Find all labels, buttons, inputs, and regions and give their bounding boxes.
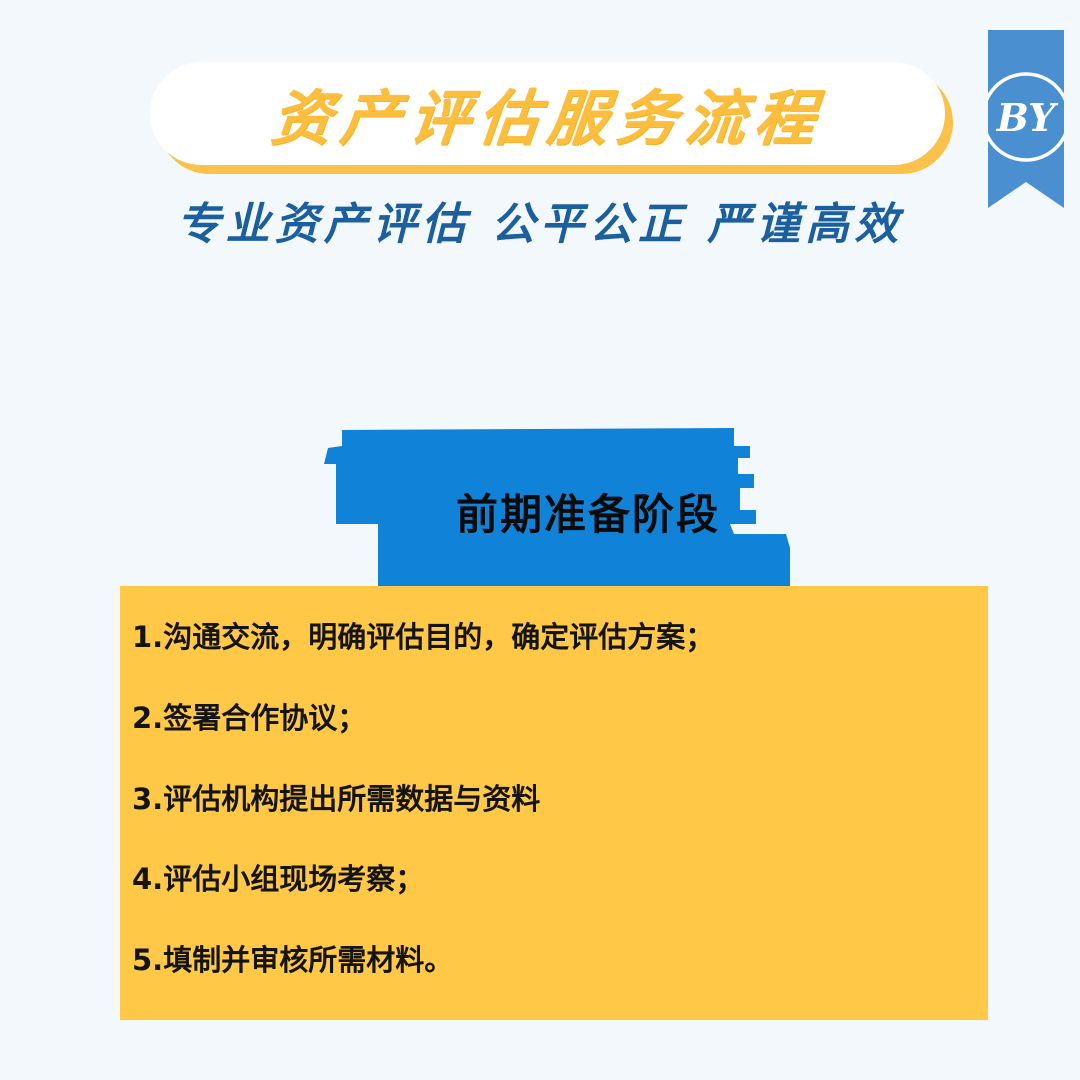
steps-list: 1.沟通交流，明确评估目的，确定评估方案； 2.签署合作协议； 3.评估机构提出… bbox=[132, 620, 958, 978]
page-subtitle: 专业资产评估 公平公正 严谨高效 bbox=[0, 188, 1080, 252]
title-pill: 资产评估服务流程 bbox=[150, 62, 945, 165]
list-item: 2.签署合作协议； bbox=[132, 701, 958, 736]
poster-canvas: 资产评估服务流程 BY 专业资产评估 公平公正 严谨高效 前期准备阶段 1.沟通… bbox=[0, 0, 1080, 1080]
list-item: 5.填制并审核所需材料。 bbox=[132, 943, 958, 978]
page-title: 资产评估服务流程 bbox=[267, 70, 828, 157]
list-item: 4.评估小组现场考察； bbox=[132, 862, 958, 897]
list-item: 3.评估机构提出所需数据与资料 bbox=[132, 782, 958, 817]
stage-banner-shape bbox=[320, 422, 800, 590]
svg-text:BY: BY bbox=[996, 95, 1059, 140]
steps-card: 1.沟通交流，明确评估目的，确定评估方案； 2.签署合作协议； 3.评估机构提出… bbox=[120, 586, 988, 1020]
title-banner: 资产评估服务流程 bbox=[150, 62, 945, 167]
list-item: 1.沟通交流，明确评估目的，确定评估方案； bbox=[132, 620, 958, 655]
